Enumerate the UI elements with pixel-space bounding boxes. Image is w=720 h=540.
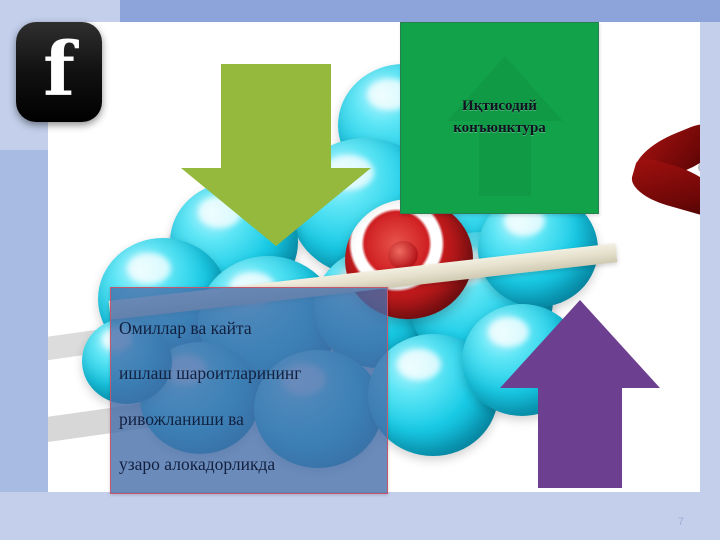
body-text-box[interactable]: Омиллар ва кайта ишлаш шароитларининг ри… xyxy=(110,287,388,494)
body-text: Омиллар ва кайта ишлаш шароитларининг ри… xyxy=(111,288,387,494)
slide-canvas: f Иқтисодийконъюнктура Омиллар ва кайта … xyxy=(0,0,720,540)
facebook-glyph: f xyxy=(43,33,75,107)
right-margin-band xyxy=(700,22,720,492)
slide-number: 7 xyxy=(678,516,684,528)
title-text-box[interactable]: Иқтисодийконъюнктура xyxy=(400,22,599,214)
top-right-accent-band xyxy=(600,0,720,22)
purple-up-arrow-icon xyxy=(500,300,660,488)
dart-pin xyxy=(698,162,700,173)
title-line-1: Иқтисодий xyxy=(462,98,537,114)
title-text: Иқтисодийконъюнктура xyxy=(453,96,546,140)
body-line: ишлаш шароитларининг xyxy=(119,362,379,385)
bottom-margin-band xyxy=(0,492,720,540)
body-line: Омиллар ва кайта xyxy=(119,317,379,340)
green-down-arrow-icon xyxy=(181,64,371,244)
body-line: ривожланиши ва xyxy=(119,408,379,431)
title-line-2: конъюнктура xyxy=(453,120,546,136)
left-accent-band xyxy=(0,150,48,492)
body-line: узаро алокадорликда xyxy=(119,453,379,476)
facebook-icon[interactable]: f xyxy=(16,22,102,122)
